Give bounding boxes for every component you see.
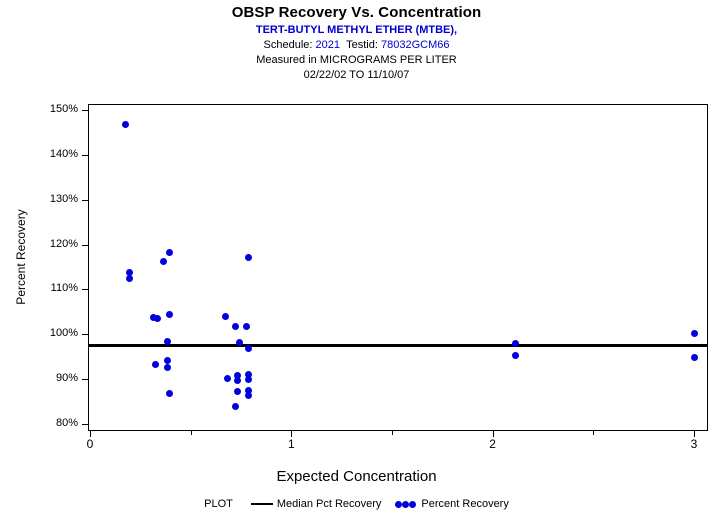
y-axis-tick bbox=[82, 289, 88, 290]
y-axis-tick-label: 110% bbox=[0, 282, 78, 294]
data-point bbox=[122, 121, 129, 128]
y-axis-tick-label: 150% bbox=[0, 103, 78, 115]
data-point bbox=[234, 388, 241, 395]
analyte-subtitle: TERT-BUTYL METHYL ETHER (MTBE), bbox=[0, 23, 713, 38]
data-point bbox=[164, 338, 171, 345]
units-line: Measured in MICROGRAMS PER LITER bbox=[0, 53, 713, 68]
legend: PLOT Median Pct Recovery Percent Recover… bbox=[0, 498, 713, 510]
data-point bbox=[232, 403, 239, 410]
schedule-value: 2021 bbox=[316, 39, 340, 51]
data-point bbox=[222, 313, 229, 320]
data-point bbox=[154, 315, 161, 322]
data-point bbox=[236, 339, 243, 346]
legend-entry-recovery[interactable]: Percent Recovery bbox=[395, 498, 508, 510]
x-axis-minor-tick bbox=[392, 431, 393, 435]
data-point bbox=[512, 340, 519, 347]
data-point bbox=[232, 323, 239, 330]
schedule-label: Schedule: bbox=[264, 39, 313, 51]
marker-dots-swatch-icon bbox=[395, 501, 417, 508]
y-axis-tick bbox=[82, 424, 88, 425]
y-axis-tick-label: 130% bbox=[0, 193, 78, 205]
y-axis-tick-label: 90% bbox=[0, 372, 78, 384]
data-point bbox=[691, 354, 698, 361]
schedule-testid-line: Schedule: 2021 Testid: 78032GCM66 bbox=[0, 38, 713, 53]
title-block: OBSP Recovery Vs. Concentration TERT-BUT… bbox=[0, 4, 713, 83]
data-point bbox=[126, 275, 133, 282]
data-point bbox=[245, 392, 252, 399]
legend-label-recovery: Percent Recovery bbox=[421, 498, 508, 510]
y-axis-tick-label: 100% bbox=[0, 327, 78, 339]
x-axis-tick-label: 0 bbox=[70, 437, 110, 451]
x-axis-tick-label: 1 bbox=[271, 437, 311, 451]
data-point bbox=[152, 361, 159, 368]
legend-entry-median[interactable]: Median Pct Recovery bbox=[251, 498, 382, 510]
y-axis-tick-label: 140% bbox=[0, 148, 78, 160]
data-point bbox=[243, 323, 250, 330]
x-axis-tick-label: 2 bbox=[473, 437, 513, 451]
median-line-swatch-icon bbox=[251, 503, 273, 505]
data-point bbox=[166, 390, 173, 397]
y-axis-tick bbox=[82, 200, 88, 201]
y-axis-tick bbox=[82, 110, 88, 111]
data-point bbox=[691, 330, 698, 337]
testid-value: 78032GCM66 bbox=[381, 39, 450, 51]
testid-label: Testid: bbox=[346, 39, 378, 51]
data-point bbox=[234, 377, 241, 384]
legend-title: PLOT bbox=[204, 498, 233, 510]
y-axis-title: Percent Recovery bbox=[14, 157, 28, 357]
data-point bbox=[164, 364, 171, 371]
plot-area bbox=[88, 104, 708, 431]
y-axis-tick bbox=[82, 155, 88, 156]
data-point bbox=[166, 311, 173, 318]
date-range-line: 02/22/02 TO 11/10/07 bbox=[0, 68, 713, 83]
data-point bbox=[245, 345, 252, 352]
y-axis-tick-label: 80% bbox=[0, 417, 78, 429]
y-axis-tick bbox=[82, 334, 88, 335]
y-axis-tick bbox=[82, 245, 88, 246]
data-point bbox=[224, 375, 231, 382]
data-point bbox=[245, 376, 252, 383]
data-point bbox=[166, 249, 173, 256]
y-axis-tick-label: 120% bbox=[0, 238, 78, 250]
x-axis-title: Expected Concentration bbox=[0, 468, 713, 485]
data-points-layer bbox=[89, 105, 707, 430]
data-point bbox=[512, 352, 519, 359]
data-point bbox=[245, 254, 252, 261]
chart-container: OBSP Recovery Vs. Concentration TERT-BUT… bbox=[0, 0, 713, 523]
legend-label-median: Median Pct Recovery bbox=[277, 498, 382, 510]
page-title: OBSP Recovery Vs. Concentration bbox=[0, 4, 713, 21]
data-point bbox=[160, 258, 167, 265]
x-axis-tick-label: 3 bbox=[674, 437, 713, 451]
y-axis-tick bbox=[82, 379, 88, 380]
x-axis-minor-tick bbox=[191, 431, 192, 435]
x-axis-minor-tick bbox=[593, 431, 594, 435]
